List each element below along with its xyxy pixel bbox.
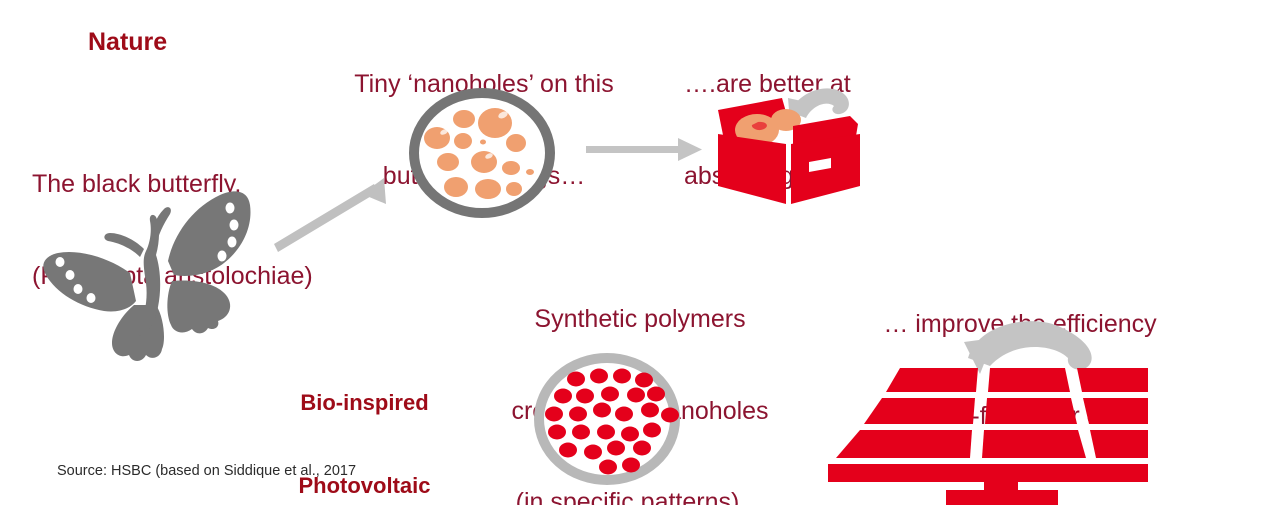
light-absorbing-box-icon bbox=[690, 82, 885, 217]
bio-inspired-line-1: Bio-inspired bbox=[277, 389, 452, 417]
synthetic-caption-line-1: Synthetic polymers bbox=[490, 304, 790, 335]
petri-dish-patterned-nanoholes-icon bbox=[524, 352, 702, 487]
infographic-canvas: Nature The black butterfly, (Pachliopta … bbox=[0, 0, 1279, 505]
petri-dish-irregular-nanoholes-icon bbox=[404, 88, 574, 218]
arrow-diagonal-icon bbox=[266, 166, 411, 258]
synthetic-caption-line-3: (in specific patterns)… bbox=[490, 487, 790, 505]
butterfly-icon bbox=[34, 183, 259, 363]
page-title-nature: Nature bbox=[88, 27, 167, 58]
solar-panel-icon bbox=[818, 318, 1148, 505]
source-note: Source: HSBC (based on Siddique et al., … bbox=[57, 463, 356, 481]
